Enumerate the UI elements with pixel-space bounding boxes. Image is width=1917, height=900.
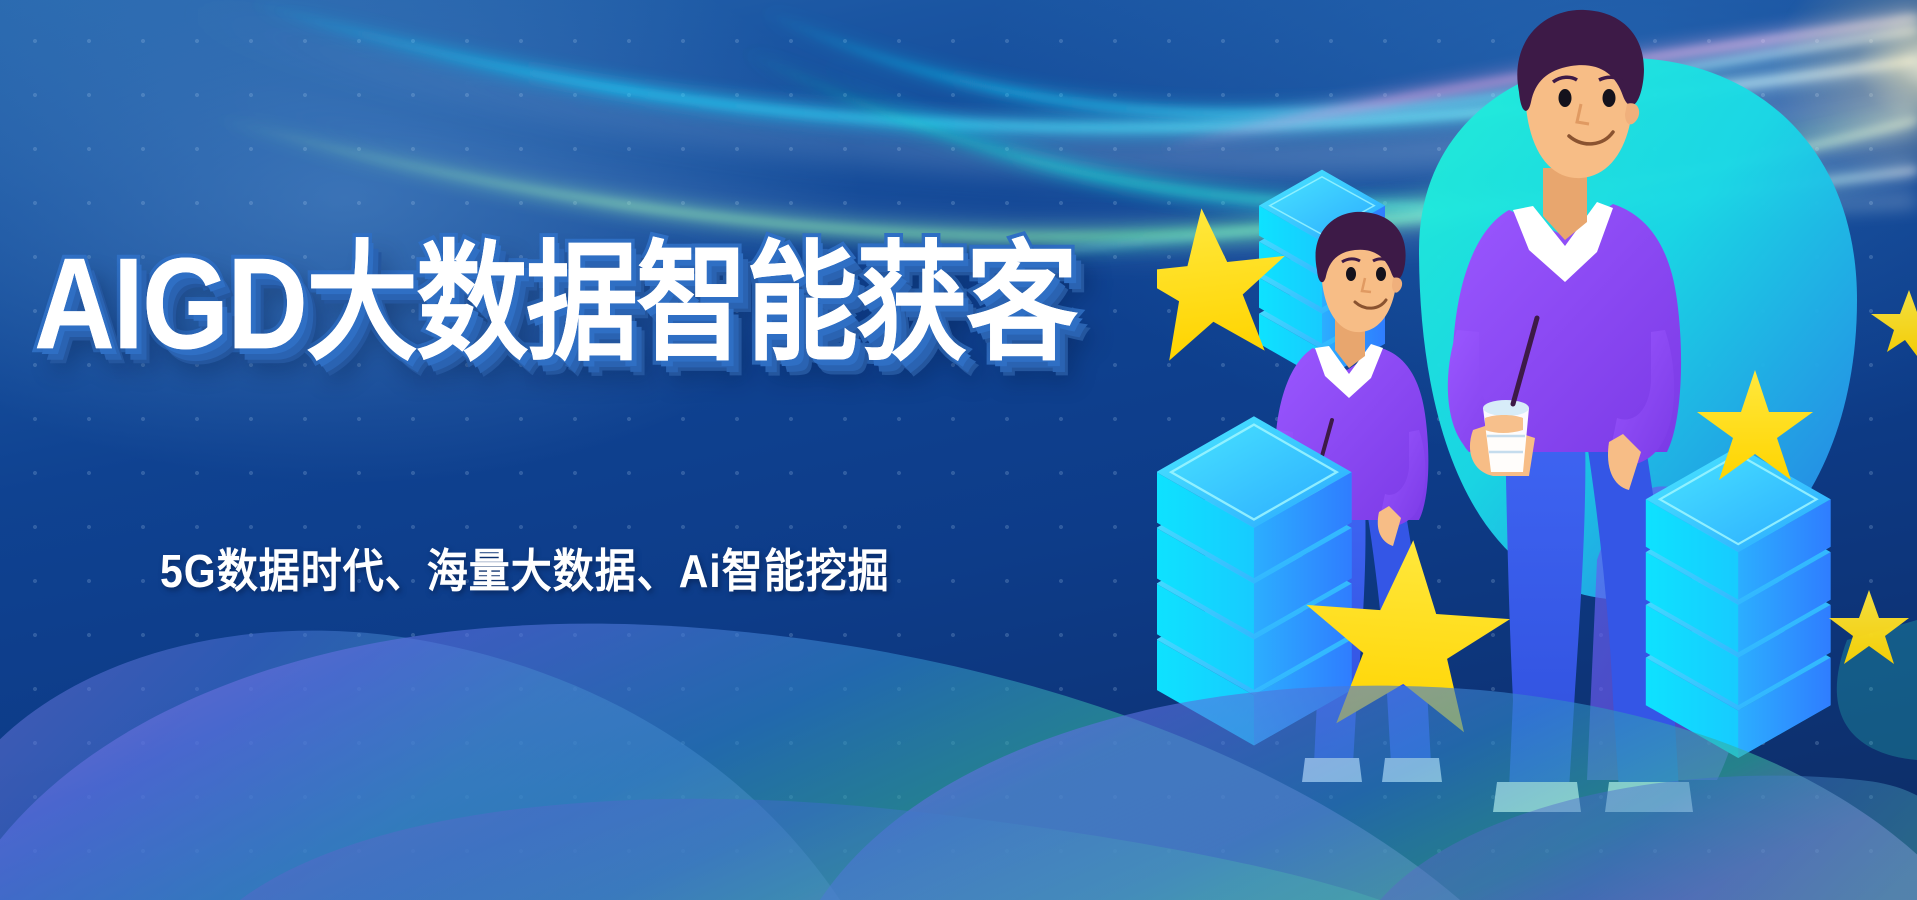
- shoe-right-small: [1382, 758, 1442, 782]
- hero-illustration: [1157, 0, 1917, 900]
- banner-title-shadow: AIGD大数据智能获客: [34, 238, 1076, 371]
- eye-left: [1559, 89, 1572, 107]
- server-stack-left: [1157, 416, 1352, 745]
- shoe-left-small: [1302, 758, 1362, 782]
- eye-right: [1603, 89, 1616, 107]
- hand-fingers: [1485, 415, 1523, 433]
- banner-stage: AIGD大数据智能获客 AIGD大数据智能获客 5G数据时代、海量大数据、Ai智…: [0, 0, 1917, 900]
- shoe-right: [1605, 782, 1693, 812]
- banner-title: AIGD大数据智能获客: [34, 238, 1076, 371]
- copy-block: AIGD大数据智能获客 AIGD大数据智能获客 5G数据时代、海量大数据、Ai智…: [0, 0, 1240, 900]
- pants-left: [1505, 430, 1585, 790]
- star-edge-right: [1871, 290, 1917, 356]
- shoe-left: [1493, 782, 1581, 812]
- ear-small: [1392, 277, 1402, 292]
- eye-right-small: [1376, 267, 1386, 281]
- server-stack-right: [1646, 446, 1831, 758]
- eye-left-small: [1346, 267, 1356, 281]
- banner-subtitle: 5G数据时代、海量大数据、Ai智能挖掘: [160, 533, 890, 600]
